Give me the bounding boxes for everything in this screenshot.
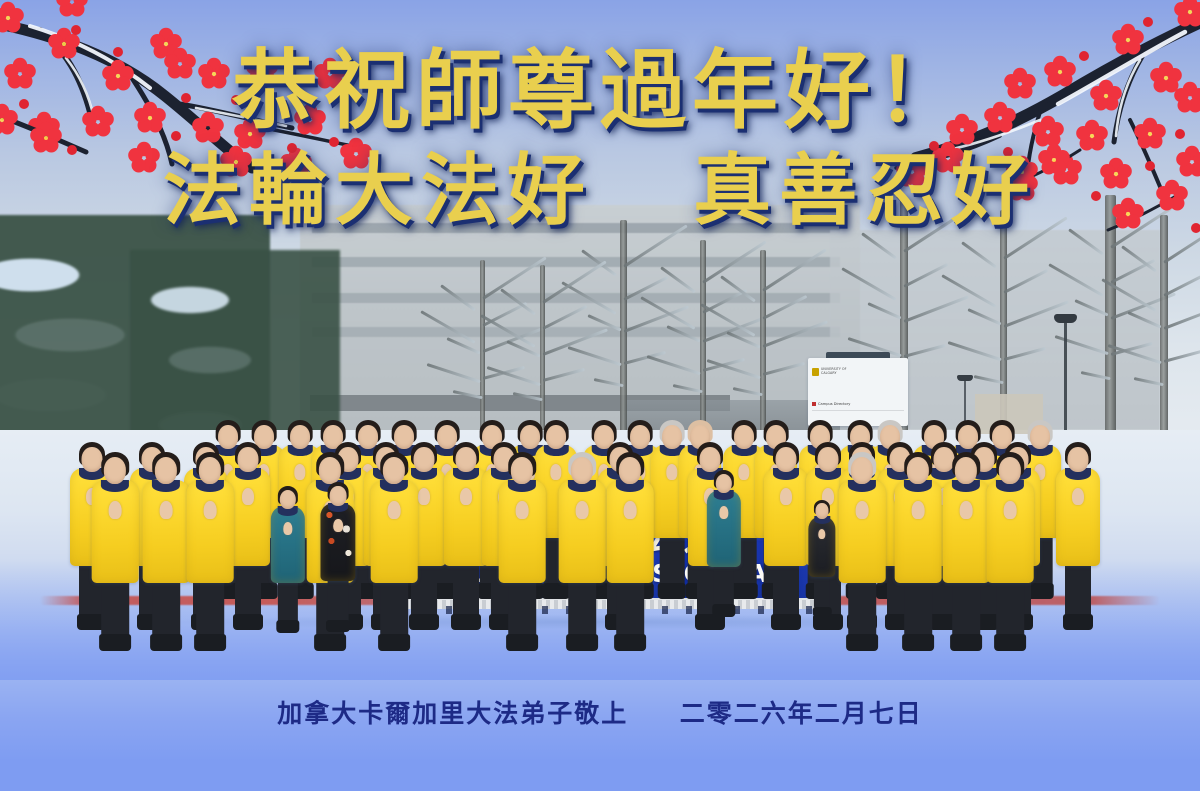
person-boots (1063, 614, 1093, 630)
person-head (619, 457, 641, 484)
yellow-coat (987, 480, 1034, 584)
person-head (630, 425, 650, 449)
person-boots (194, 634, 226, 651)
person-legs (453, 562, 479, 618)
person-head (199, 457, 221, 484)
hands-heshi (294, 464, 305, 480)
person-boots (695, 614, 725, 630)
person-boots (451, 614, 481, 630)
greeting-line-2-part-2: 真善忍好 (693, 145, 1037, 236)
person-boots (326, 620, 350, 633)
yellow-coat (808, 516, 835, 577)
person-legs (848, 579, 876, 638)
hands-heshi (818, 529, 825, 540)
person-head (546, 425, 566, 449)
hands-heshi (1072, 488, 1084, 505)
person-legs (660, 534, 685, 587)
greeting-card: UNIVERSITY OF CALGARY Campus Directory 法… (0, 0, 1200, 791)
hands-heshi (333, 519, 343, 533)
yellow-coat (371, 480, 418, 584)
person-head (851, 457, 873, 484)
person-head (104, 457, 126, 484)
yellow-coat (187, 480, 234, 584)
hands-heshi (109, 501, 122, 519)
person-head (520, 425, 540, 449)
signature-date: 二零二六年二月七日 (680, 699, 923, 728)
person-legs (714, 564, 734, 608)
hands-heshi (719, 506, 728, 519)
person-boots (614, 634, 646, 651)
hands-heshi (160, 501, 173, 519)
hands-heshi (418, 488, 430, 505)
person-head (437, 425, 457, 449)
person-head (280, 490, 296, 510)
signature-sender: 加拿大卡爾加里大法弟子敬上 (277, 699, 628, 728)
person-boots (994, 634, 1026, 651)
hands-heshi (738, 464, 749, 480)
person-head (330, 486, 347, 506)
person-head (662, 425, 682, 449)
person-head (358, 425, 378, 449)
yellow-coat (320, 503, 355, 581)
person-boots (314, 634, 346, 651)
person-boots (99, 634, 131, 651)
person-legs (616, 579, 644, 638)
person-legs (773, 562, 799, 618)
person-head (776, 447, 797, 472)
hands-heshi (550, 464, 561, 480)
hands-heshi (960, 501, 973, 519)
person-head (734, 425, 754, 449)
person-head (700, 447, 721, 472)
person-boots (233, 614, 263, 630)
person-head (716, 474, 732, 494)
person-legs (235, 562, 261, 618)
person-boots (409, 614, 439, 630)
yellow-coat (764, 468, 808, 566)
yellow-coat (92, 480, 139, 584)
person-boots (771, 614, 801, 630)
yellow-coat (1056, 468, 1100, 566)
person-head (82, 447, 103, 472)
person-head (511, 457, 533, 484)
person-legs (952, 579, 980, 638)
person-head (1068, 447, 1089, 472)
yellow-coat (895, 480, 942, 584)
yellow-coat (607, 480, 654, 584)
person-legs (568, 579, 596, 638)
hands-heshi (624, 501, 637, 519)
person-legs (380, 579, 408, 638)
hands-heshi (856, 501, 869, 519)
person-head (907, 457, 929, 484)
person-boots (950, 634, 982, 651)
hands-heshi (912, 501, 925, 519)
person-legs (508, 579, 536, 638)
yellow-coat (271, 506, 305, 582)
person-head (414, 447, 435, 472)
person-boots (378, 634, 410, 651)
person-boots (150, 634, 182, 651)
person-legs (1065, 562, 1091, 618)
person-head (818, 447, 839, 472)
person-boots (506, 634, 538, 651)
person-head (815, 503, 828, 519)
hands-heshi (576, 501, 589, 519)
yellow-coat (707, 490, 741, 566)
person-head (218, 425, 238, 449)
person-legs (152, 579, 180, 638)
person-head (238, 447, 259, 472)
person-boots (566, 634, 598, 651)
yellow-coat (143, 480, 190, 584)
person-boots (542, 583, 571, 598)
person-legs (101, 579, 129, 638)
person-boots (730, 583, 759, 598)
person-head (290, 425, 310, 449)
person-head (319, 457, 341, 484)
greeting-line-2: 法輪大法好 真善忍好 (0, 134, 1200, 230)
person-boots (276, 620, 299, 632)
person-legs (328, 578, 349, 623)
hands-heshi (460, 488, 472, 505)
signature-caption: 加拿大卡爾加里大法弟子敬上 二零二六年二月七日 (0, 694, 1200, 730)
person-boots (658, 583, 687, 598)
person-head (1030, 425, 1050, 449)
hands-heshi (516, 501, 529, 519)
hands-heshi (204, 501, 217, 519)
hands-heshi (242, 488, 254, 505)
person-head (383, 457, 405, 484)
person-boots (712, 604, 735, 616)
person-head (955, 457, 977, 484)
hands-heshi (1004, 501, 1017, 519)
person-boots (902, 634, 934, 651)
person-head (456, 447, 477, 472)
greeting-text-block: 恭祝師尊過年好！ 法輪大法好 真善忍好 (0, 0, 1200, 230)
yellow-coat (499, 480, 546, 584)
person-legs (814, 574, 830, 609)
hands-heshi (388, 501, 401, 519)
person-head (571, 457, 593, 484)
person-boots (846, 634, 878, 651)
person-head (999, 457, 1021, 484)
hands-heshi (283, 522, 292, 535)
hands-heshi (666, 464, 677, 480)
yellow-coat (943, 480, 990, 584)
person-head (155, 457, 177, 484)
yellow-coat (559, 480, 606, 584)
person-legs (278, 580, 298, 624)
hands-heshi (780, 488, 792, 505)
person-legs (996, 579, 1024, 638)
person-legs (196, 579, 224, 638)
greeting-line-1: 恭祝師尊過年好！ (0, 0, 1200, 134)
person-head (394, 425, 414, 449)
yellow-coat (839, 480, 886, 584)
greeting-line-2-part-1: 法輪大法好 (163, 145, 593, 236)
person-boots (813, 607, 832, 617)
person-legs (904, 579, 932, 638)
